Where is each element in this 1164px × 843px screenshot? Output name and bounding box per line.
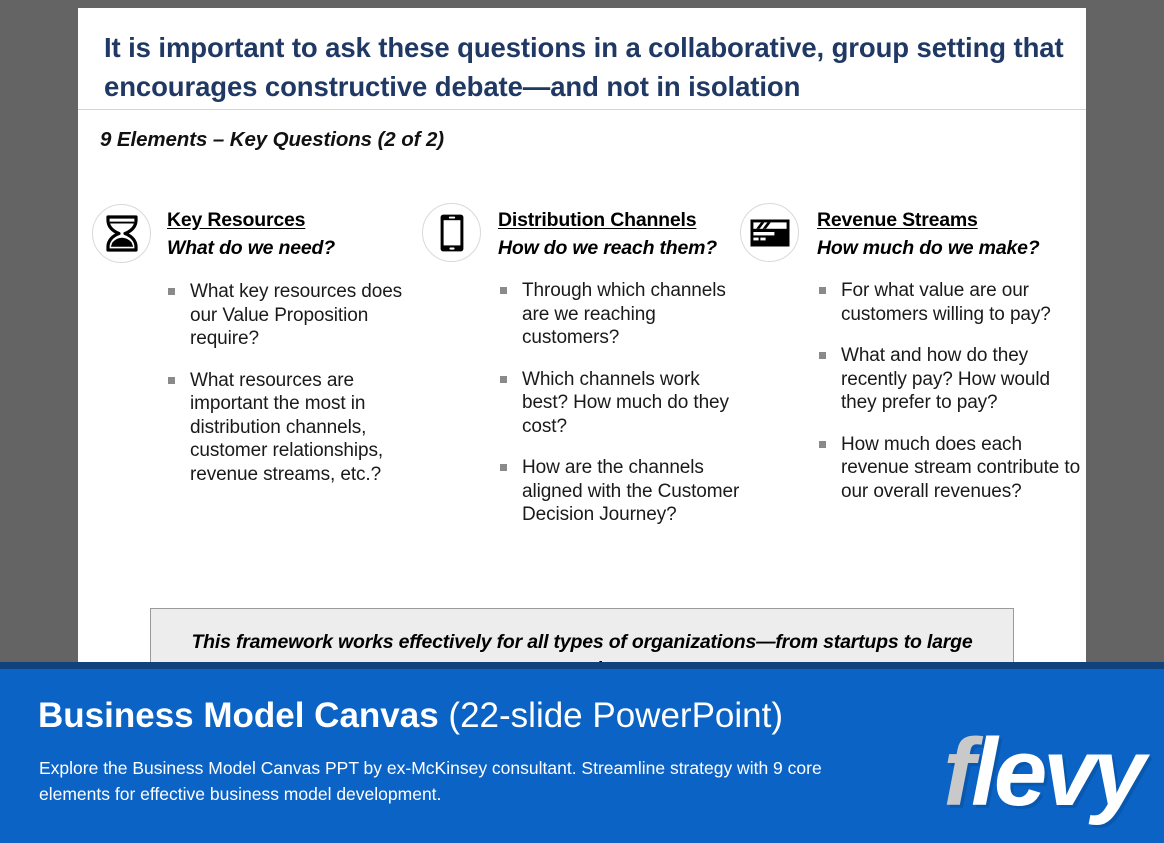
- column-question: How do we reach them?: [498, 237, 717, 260]
- callout-box: This framework works effectively for all…: [150, 608, 1014, 664]
- column-heading: Revenue Streams: [817, 209, 1039, 232]
- list-item: Through which channels are we reaching c…: [499, 279, 740, 350]
- list-item: How much does each revenue stream contri…: [818, 433, 1084, 504]
- banner-title: Business Model Canvas (22-slide PowerPoi…: [38, 696, 783, 736]
- title-divider: [78, 109, 1086, 110]
- list-item: What and how do they recently pay? How w…: [818, 344, 1084, 415]
- list-item: For what value are our customers willing…: [818, 279, 1084, 326]
- slide-canvas: It is important to ask these questions i…: [78, 8, 1086, 664]
- page-title: It is important to ask these questions i…: [104, 28, 1064, 106]
- bullet-list: Through which channels are we reaching c…: [422, 279, 740, 527]
- bullet-list: What key resources does our Value Propos…: [92, 280, 422, 486]
- element-column-distribution-channels: Distribution Channels How do we reach th…: [422, 204, 740, 527]
- column-header: Distribution Channels How do we reach th…: [422, 204, 740, 262]
- column-heading: Distribution Channels: [498, 209, 717, 232]
- screenshot-root: It is important to ask these questions i…: [0, 0, 1164, 843]
- list-item: How are the channels aligned with the Cu…: [499, 456, 740, 527]
- banner-title-strong: Business Model Canvas: [38, 696, 439, 735]
- column-heading: Key Resources: [167, 209, 335, 232]
- flevy-logo-levy: levy: [971, 719, 1142, 826]
- hourglass-icon: [92, 204, 151, 263]
- element-column-key-resources: Key Resources What do we need? What key …: [92, 204, 422, 486]
- list-item: Which channels work best? How much do th…: [499, 368, 740, 439]
- column-header-text: Key Resources What do we need?: [151, 204, 335, 260]
- slide-subtitle: 9 Elements – Key Questions (2 of 2): [100, 128, 444, 152]
- element-column-revenue-streams: Revenue Streams How much do we make? For…: [740, 204, 1084, 503]
- column-header: Revenue Streams How much do we make?: [740, 204, 1084, 262]
- column-question: How much do we make?: [817, 237, 1039, 260]
- banner-description: Explore the Business Model Canvas PPT by…: [39, 756, 849, 808]
- flevy-promo-banner: Business Model Canvas (22-slide PowerPoi…: [0, 662, 1164, 843]
- callout-text: This framework works effectively for all…: [177, 629, 987, 664]
- smartphone-icon: [422, 203, 481, 262]
- banner-title-light: (22-slide PowerPoint): [439, 696, 783, 735]
- flevy-logo: flevy: [943, 725, 1142, 821]
- elements-columns: Key Resources What do we need? What key …: [92, 204, 1084, 527]
- bullet-list: For what value are our customers willing…: [740, 279, 1084, 503]
- credit-card-icon: [740, 203, 799, 262]
- list-item: What key resources does our Value Propos…: [167, 280, 422, 351]
- flevy-logo-f: f: [943, 719, 971, 826]
- column-question: What do we need?: [167, 237, 335, 260]
- column-header-text: Revenue Streams How much do we make?: [799, 204, 1039, 260]
- list-item: What resources are important the most in…: [167, 369, 422, 487]
- column-header: Key Resources What do we need?: [92, 204, 422, 263]
- column-header-text: Distribution Channels How do we reach th…: [481, 204, 717, 260]
